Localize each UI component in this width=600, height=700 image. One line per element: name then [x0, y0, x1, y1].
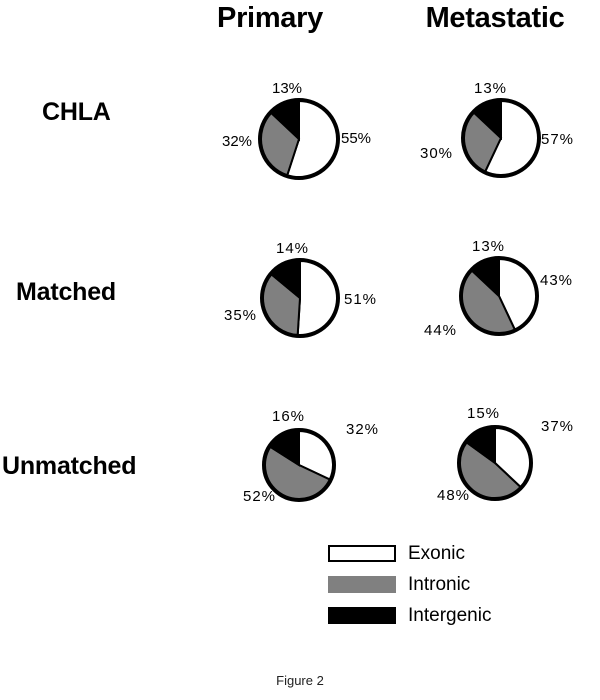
legend-item-intergenic: Intergenic	[328, 600, 491, 631]
pie-label-unmatched-metastatic-intergenic: 15%	[467, 405, 500, 422]
pie-chart-chla-metastatic	[461, 98, 541, 178]
legend: Exonic Intronic Intergenic	[328, 538, 491, 631]
pie-label-unmatched-primary-intronic: 52%	[243, 488, 276, 505]
legend-label-exonic: Exonic	[408, 543, 465, 565]
legend-swatch-intergenic	[328, 607, 396, 624]
legend-label-intergenic: Intergenic	[408, 605, 491, 627]
pie-label-chla-metastatic-intergenic: 13%	[474, 80, 507, 97]
pie-slice-exonic	[298, 261, 337, 335]
pie-label-unmatched-primary-intergenic: 16%	[272, 408, 305, 425]
pie-label-matched-primary-intronic: 35%	[224, 307, 257, 324]
pie-label-chla-primary-exonic: 55%	[341, 130, 371, 147]
pie-label-chla-primary-intergenic: 13%	[272, 80, 302, 97]
pie-label-matched-metastatic-intergenic: 13%	[472, 238, 505, 255]
column-header-metastatic: Metastatic	[390, 2, 600, 35]
row-label-chla: CHLA	[42, 98, 111, 127]
figure-caption: Figure 2	[0, 673, 600, 688]
pie-chart-matched-primary	[260, 258, 340, 338]
pie-label-matched-primary-exonic: 51%	[344, 291, 377, 308]
legend-label-intronic: Intronic	[408, 574, 470, 596]
legend-swatch-exonic	[328, 545, 396, 562]
row-label-unmatched: Unmatched	[2, 452, 136, 481]
legend-swatch-intronic	[328, 576, 396, 593]
pie-label-chla-primary-intronic: 32%	[222, 133, 252, 150]
pie-label-chla-metastatic-intronic: 30%	[420, 145, 453, 162]
column-header-primary: Primary	[180, 2, 360, 35]
legend-item-exonic: Exonic	[328, 538, 491, 569]
pie-label-unmatched-primary-exonic: 32%	[346, 421, 379, 438]
pie-label-chla-metastatic-exonic: 57%	[541, 131, 574, 148]
pie-label-unmatched-metastatic-intronic: 48%	[437, 487, 470, 504]
row-label-matched: Matched	[16, 278, 116, 307]
pie-label-matched-metastatic-intronic: 44%	[424, 322, 457, 339]
pie-chart-chla-primary	[258, 98, 340, 180]
pie-label-matched-primary-intergenic: 14%	[276, 240, 309, 257]
pie-label-unmatched-metastatic-exonic: 37%	[541, 418, 574, 435]
figure-canvas: Primary Metastatic CHLA Matched Unmatche…	[0, 0, 600, 700]
pie-chart-matched-metastatic	[459, 256, 539, 336]
legend-item-intronic: Intronic	[328, 569, 491, 600]
pie-label-matched-metastatic-exonic: 43%	[540, 272, 573, 289]
